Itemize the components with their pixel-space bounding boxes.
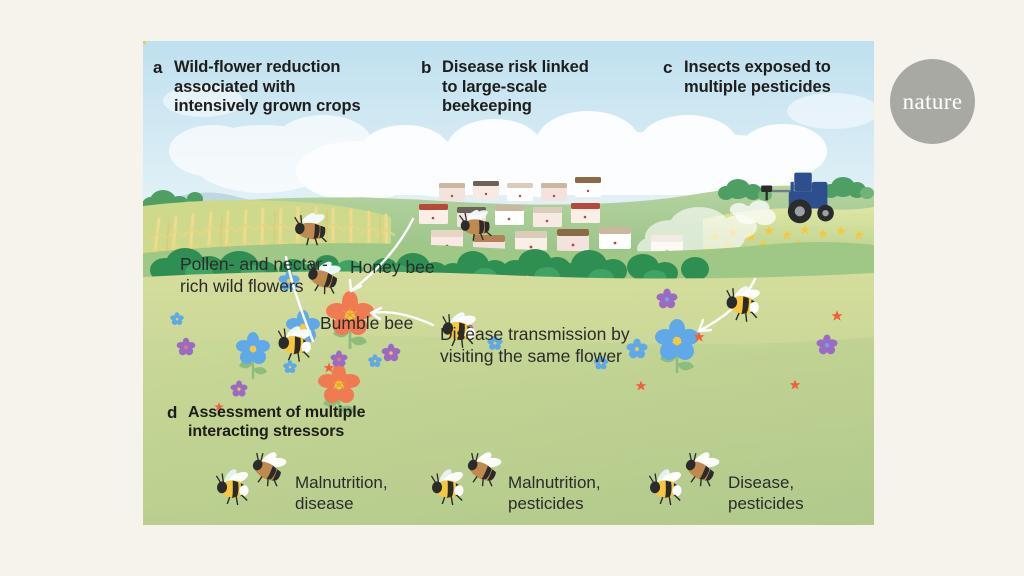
panel-c-title-line-2: multiple pesticides bbox=[684, 78, 884, 98]
panel-b-heading: b Disease risk linked to large-scale bee… bbox=[442, 58, 657, 117]
panel-b-title-line-1: Disease risk linked bbox=[442, 58, 657, 78]
annotation-honey-bee: Honey bee bbox=[350, 256, 440, 278]
exhaust-pipe bbox=[791, 182, 794, 192]
annotation-disease-transmission: Disease transmission by visiting the sam… bbox=[440, 323, 655, 367]
panel-b-label: b bbox=[421, 58, 431, 78]
panel-a-title-line-2: associated with bbox=[174, 78, 409, 98]
panel-c-label: c bbox=[663, 58, 672, 78]
panel-a-title-line-3: intensively grown crops bbox=[174, 97, 409, 117]
panel-a-label: a bbox=[153, 58, 162, 78]
stressor-label-2: Malnutrition, pesticides bbox=[508, 472, 638, 514]
annotation-wild-flowers: Pollen- and nectar-rich wild flowers bbox=[180, 253, 355, 297]
figure-root: nature a Wild-flower reduction associate… bbox=[0, 0, 1024, 576]
stressor-label-3: Disease, pesticides bbox=[728, 472, 858, 514]
panel-d-label: d bbox=[167, 403, 177, 422]
panel-c-title-line-1: Insects exposed to bbox=[684, 58, 884, 78]
stressor-label-1: Malnutrition, disease bbox=[295, 472, 425, 514]
annotation-bumble-bee: Bumble bee bbox=[320, 312, 420, 334]
panel-c-heading: c Insects exposed to multiple pesticides bbox=[684, 58, 884, 97]
panel-d-heading: d Assessment of multiple interacting str… bbox=[188, 403, 438, 441]
panel-b-title-line-3: beekeeping bbox=[442, 97, 657, 117]
nature-logo-text: nature bbox=[903, 89, 963, 115]
panel-d-title-line-2: interacting stressors bbox=[188, 422, 438, 441]
panel-b-title-line-2: to large-scale bbox=[442, 78, 657, 98]
panel-a-heading: a Wild-flower reduction associated with … bbox=[174, 58, 409, 117]
panel-a-title-line-1: Wild-flower reduction bbox=[174, 58, 409, 78]
nature-logo: nature bbox=[890, 59, 975, 144]
panel-d-title-line-1: Assessment of multiple bbox=[188, 403, 438, 422]
tractor-cab bbox=[794, 173, 811, 191]
